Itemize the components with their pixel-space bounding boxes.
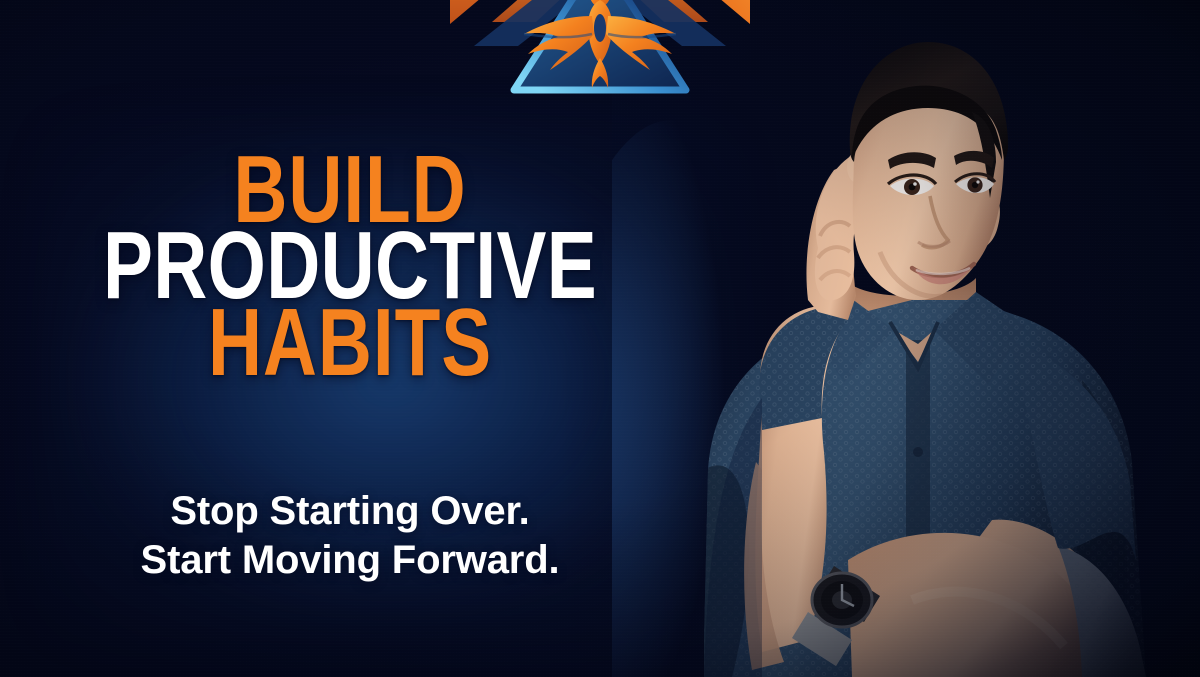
headline-line-habits: HABITS xyxy=(77,301,623,385)
subcopy-line-2: Start Moving Forward. xyxy=(0,536,700,585)
headline-block: BUILD PRODUCTIVE HABITS xyxy=(0,148,700,385)
phoenix-emblem-icon xyxy=(450,0,750,128)
subcopy-line-1: Stop Starting Over. xyxy=(0,487,700,536)
subcopy-block: Stop Starting Over. Start Moving Forward… xyxy=(0,487,700,585)
youtube-thumbnail-canvas: BUILD PRODUCTIVE HABITS Stop Starting Ov… xyxy=(0,0,1200,677)
